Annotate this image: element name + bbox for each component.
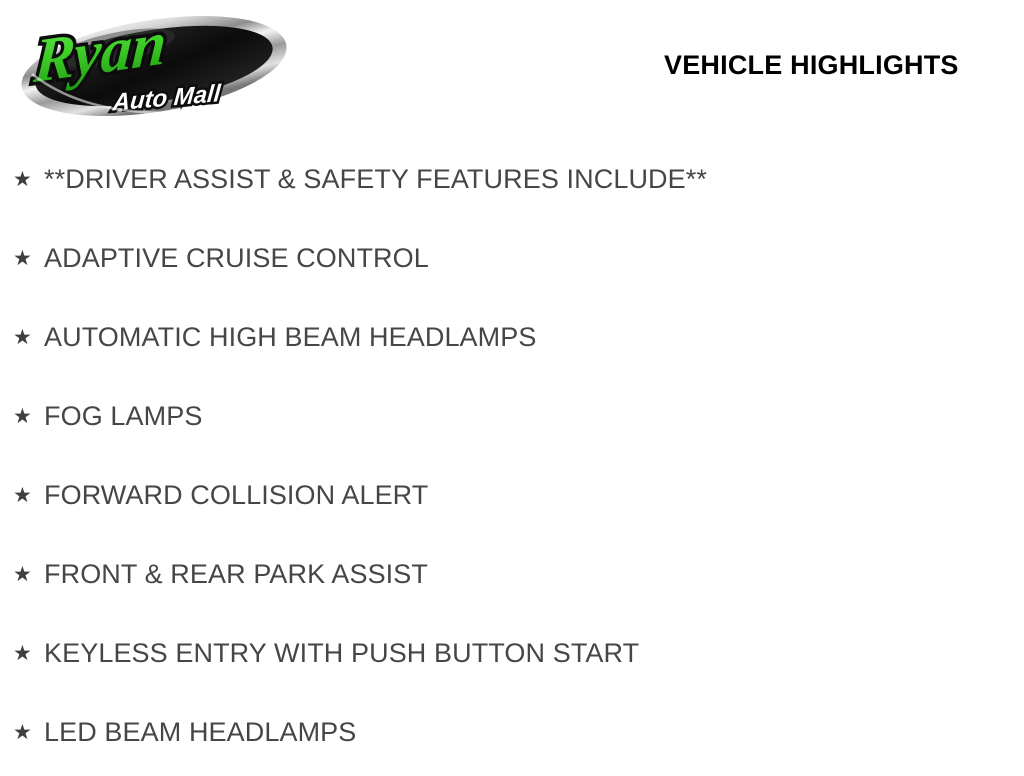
star-bullet-icon: ★ (13, 535, 33, 614)
list-item-label: AUTOMATIC HIGH BEAM HEADLAMPS (44, 322, 536, 352)
list-item: ★ LED BEAM HEADLAMPS (0, 693, 1024, 772)
list-item-label: **DRIVER ASSIST & SAFETY FEATURES INCLUD… (44, 164, 707, 194)
list-item: ★ KEYLESS ENTRY WITH PUSH BUTTON START (0, 614, 1024, 693)
list-item-label: FRONT & REAR PARK ASSIST (44, 559, 428, 589)
vehicle-highlights-list: ★ **DRIVER ASSIST & SAFETY FEATURES INCL… (0, 140, 1024, 772)
list-item: ★ FRONT & REAR PARK ASSIST (0, 535, 1024, 614)
star-bullet-icon: ★ (13, 298, 33, 377)
page-title: VEHICLE HIGHLIGHTS (664, 50, 959, 81)
star-bullet-icon: ★ (13, 219, 33, 298)
star-bullet-icon: ★ (13, 456, 33, 535)
list-item-label: FOG LAMPS (44, 401, 202, 431)
star-bullet-icon: ★ (13, 614, 33, 693)
list-item-label: LED BEAM HEADLAMPS (44, 717, 356, 747)
list-item: ★ **DRIVER ASSIST & SAFETY FEATURES INCL… (0, 140, 1024, 219)
list-item: ★ FOG LAMPS (0, 377, 1024, 456)
list-item: ★ ADAPTIVE CRUISE CONTROL (0, 219, 1024, 298)
ryan-auto-mall-logo: Ryan Auto Mall (18, 8, 290, 120)
page-header: Ryan Auto Mall VEHICLE HIGHLIGHTS (0, 0, 1024, 128)
star-bullet-icon: ★ (13, 377, 33, 456)
list-item: ★ AUTOMATIC HIGH BEAM HEADLAMPS (0, 298, 1024, 377)
list-item-label: FORWARD COLLISION ALERT (44, 480, 428, 510)
list-item-label: ADAPTIVE CRUISE CONTROL (44, 243, 429, 273)
star-bullet-icon: ★ (13, 693, 33, 772)
list-item: ★ FORWARD COLLISION ALERT (0, 456, 1024, 535)
star-bullet-icon: ★ (13, 140, 33, 219)
list-item-label: KEYLESS ENTRY WITH PUSH BUTTON START (44, 638, 639, 668)
